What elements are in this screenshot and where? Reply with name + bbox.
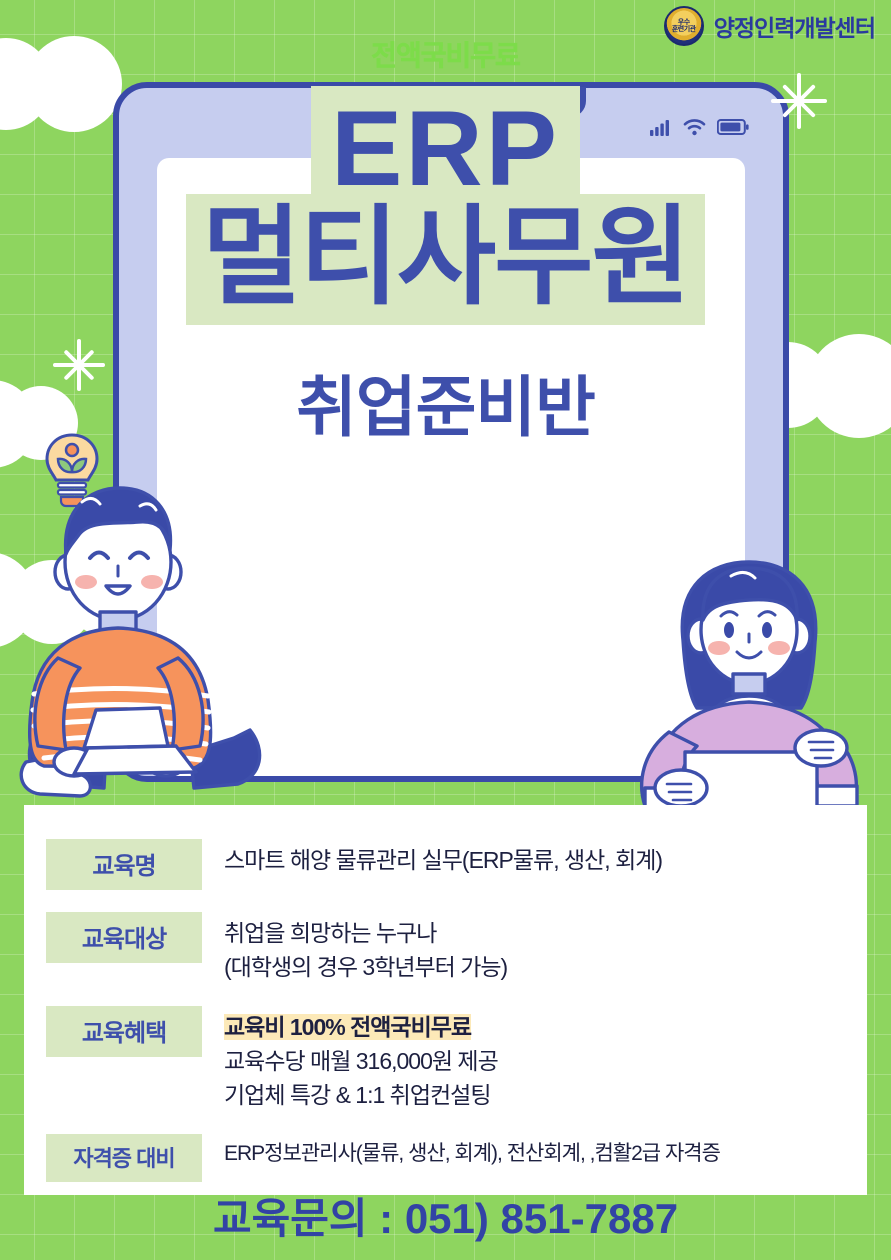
contact-line: 교육문의 : 051) 851-7887 (0, 1185, 891, 1246)
brand-name: 양정인력개발센터 (714, 9, 875, 43)
info-line: 취업을 희망하는 누구나 (224, 916, 507, 950)
info-value: 취업을 희망하는 누구나 (대학생의 경우 3학년부터 가능) (224, 912, 507, 984)
sparkle-icon (44, 330, 114, 400)
info-row: 교육명 스마트 해양 물류관리 실무(ERP물류, 생산, 회계) (24, 839, 867, 890)
sparkle-icon (530, 718, 596, 784)
info-label: 교육대상 (46, 912, 202, 963)
accreditation-badge-icon: 우수 훈련기관 (664, 6, 704, 46)
info-label: 자격증 대비 (46, 1134, 202, 1182)
info-line: 스마트 해양 물류관리 실무(ERP물류, 생산, 회계) (224, 843, 662, 877)
info-line: ERP정보관리사(물류, 생산, 회계), 전산회계, ,컴활2급 자격증 (224, 1138, 720, 1169)
info-row: 자격증 대비 ERP정보관리사(물류, 생산, 회계), 전산회계, ,컴활2급… (24, 1134, 867, 1182)
info-value: ERP정보관리사(물류, 생산, 회계), 전산회계, ,컴활2급 자격증 (224, 1134, 720, 1169)
headline-block: 전액국비무료 ERP 멀티사무원 취업준비반 (0, 34, 891, 450)
brand-header: 우수 훈련기관 양정인력개발센터 (664, 6, 875, 46)
info-line: 교육비 100% 전액국비무료 (224, 1010, 498, 1044)
info-row: 교육혜택 교육비 100% 전액국비무료 교육수당 매월 316,000원 제공… (24, 1006, 867, 1112)
badge-line-1: 우수 (678, 19, 690, 26)
course-info-panel: 교육명 스마트 해양 물류관리 실무(ERP물류, 생산, 회계) 교육대상 취… (24, 805, 867, 1195)
info-line: 교육수당 매월 316,000원 제공 (224, 1044, 498, 1078)
info-label: 교육명 (46, 839, 202, 890)
male-student-illustration (18, 462, 288, 812)
title-erp: ERP (0, 94, 891, 203)
benefit-highlight: 교육비 100% 전액국비무료 (224, 1014, 471, 1040)
subtitle: 취업준비반 (0, 354, 891, 450)
info-line: (대학생의 경우 3학년부터 가능) (224, 950, 507, 984)
female-student-illustration (625, 556, 877, 816)
info-value: 스마트 해양 물류관리 실무(ERP물류, 생산, 회계) (224, 839, 662, 877)
sparkle-icon (760, 62, 838, 140)
info-line: 기업체 특강 & 1:1 취업컨설팅 (224, 1078, 498, 1112)
title-korean: 멀티사무원 (0, 199, 891, 316)
info-row: 교육대상 취업을 희망하는 누구나 (대학생의 경우 3학년부터 가능) (24, 912, 867, 984)
info-label: 교육혜택 (46, 1006, 202, 1057)
badge-line-2: 훈련기관 (672, 26, 696, 33)
info-value: 교육비 100% 전액국비무료 교육수당 매월 316,000원 제공 기업체 … (224, 1006, 498, 1112)
